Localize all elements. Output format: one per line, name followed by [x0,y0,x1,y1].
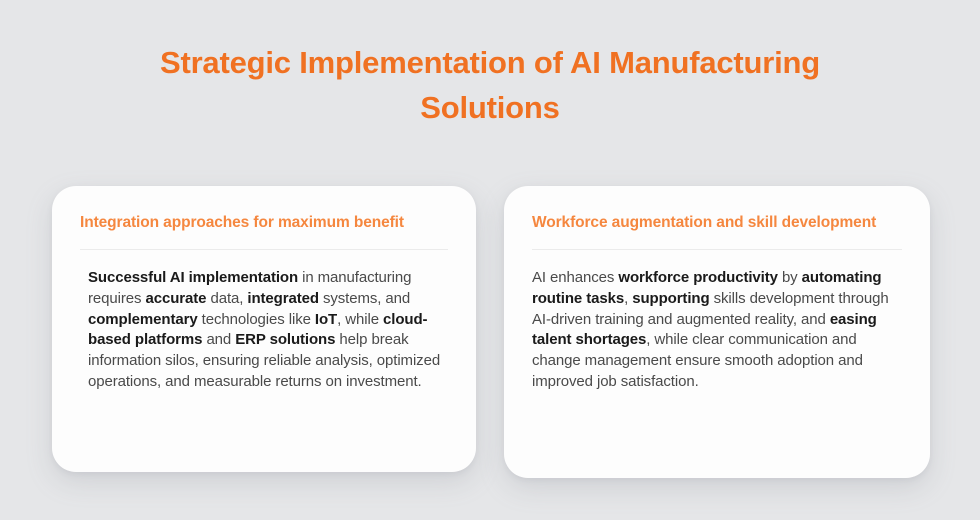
slide-canvas: Strategic Implementation of AI Manufactu… [0,0,980,520]
card-divider [80,249,448,250]
card-body: Successful AI implementation in manufact… [80,268,448,393]
card-body: AI enhances workforce productivity by au… [532,268,902,393]
card-heading: Integration approaches for maximum benef… [80,212,448,233]
page-title: Strategic Implementation of AI Manufactu… [90,40,890,130]
card-workforce-augmentation: Workforce augmentation and skill develop… [504,186,930,478]
card-divider [532,249,902,250]
card-integration-approaches: Integration approaches for maximum benef… [52,186,476,472]
card-heading: Workforce augmentation and skill develop… [532,212,902,233]
